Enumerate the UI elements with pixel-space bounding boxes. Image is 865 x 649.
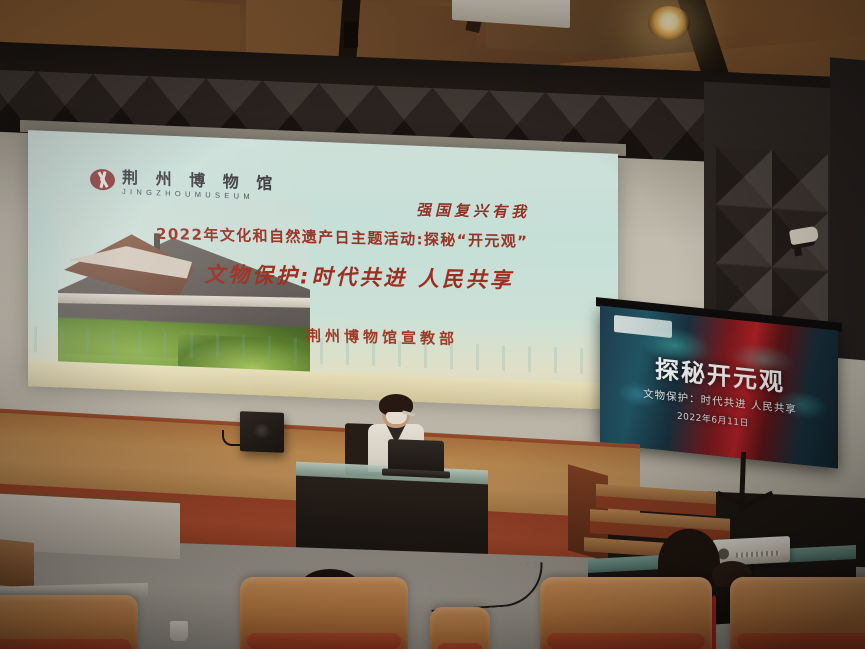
paper-cup (170, 621, 188, 641)
right-wall-block (830, 57, 865, 362)
ceiling-speaker (344, 22, 358, 48)
stage-monitor-speaker (240, 411, 284, 453)
acoustic-panel (772, 150, 828, 213)
projector-vent (736, 550, 780, 557)
acoustic-panel (716, 205, 772, 268)
audience-seat (430, 607, 490, 649)
side-wood-panel (0, 537, 34, 589)
ceiling-spotlight (648, 6, 690, 40)
screen-glare (28, 130, 618, 410)
acoustic-panel (716, 146, 772, 209)
audience-seat (730, 577, 865, 649)
audience-seat (540, 577, 712, 649)
audience-seat (240, 577, 408, 649)
speaker-cone-icon (253, 423, 270, 439)
projection-screen: 荆 州 博 物 馆 JINGZHOUMUSEUM 强国复兴有我 2022年文化和… (28, 130, 618, 410)
audience-seat (0, 595, 138, 649)
lecture-hall-photo: 荆 州 博 物 馆 JINGZHOUMUSEUM 强国复兴有我 2022年文化和… (0, 0, 865, 649)
